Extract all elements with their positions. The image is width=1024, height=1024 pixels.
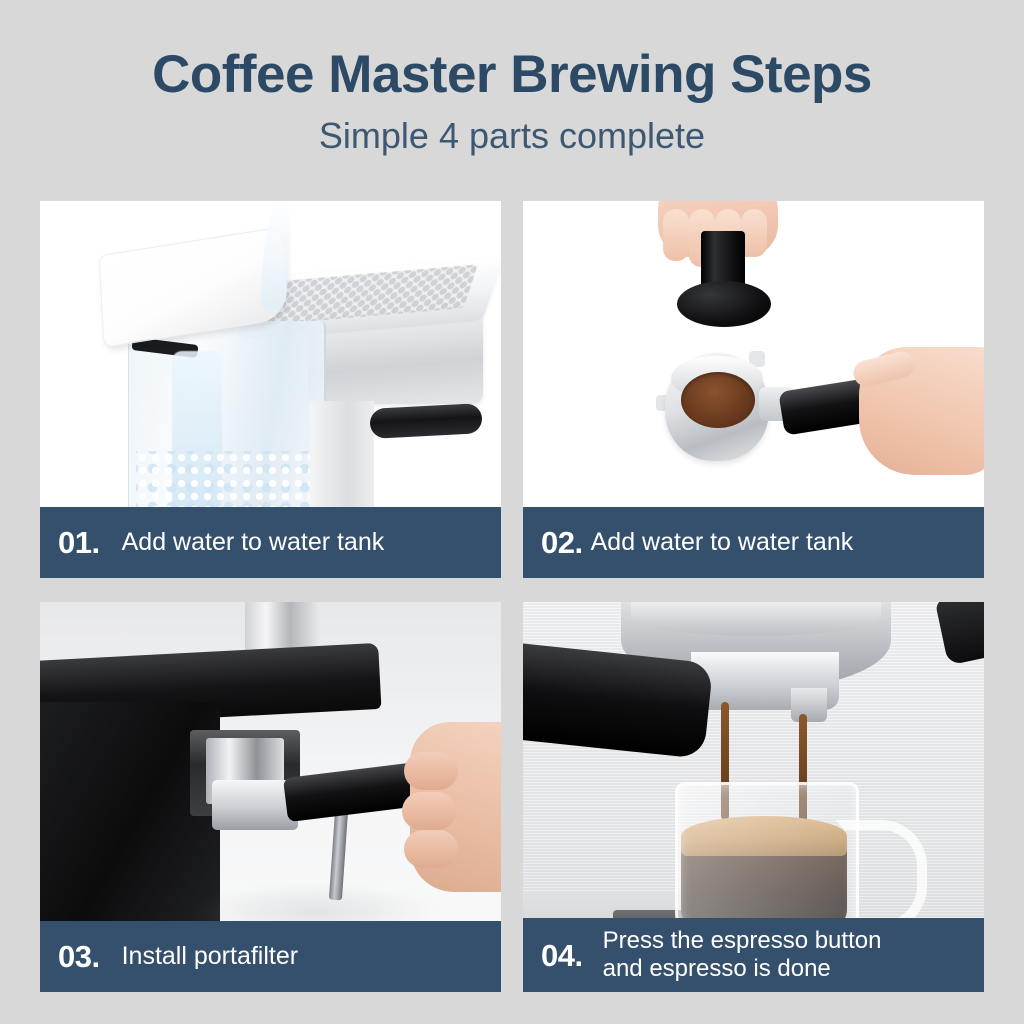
step-04-label-line1: Press the espresso button <box>603 927 882 955</box>
machine-pedestal <box>310 401 374 511</box>
step-01-label: Add water to water tank <box>122 528 385 557</box>
steps-grid: 01. Add water to water tank <box>40 201 984 992</box>
step-02-caption: 02. Add water to water tank <box>523 507 984 578</box>
cup-handle <box>835 820 927 932</box>
step-04-caption: 04. Press the espresso button and espres… <box>523 918 984 992</box>
step-01-number: 01. <box>58 527 100 558</box>
portafilter-spout <box>791 688 827 722</box>
tamper-base <box>677 281 771 327</box>
coffee-grounds <box>681 372 755 428</box>
step-card-02[interactable]: 02. Add water to water tank <box>523 201 984 578</box>
step-04-number: 04. <box>541 940 583 971</box>
water-bubbles <box>136 451 316 511</box>
step-02-number: 02. <box>541 527 583 558</box>
page-subtitle: Simple 4 parts complete <box>0 106 1024 158</box>
step-03-number: 03. <box>58 941 100 972</box>
step-card-01[interactable]: 01. Add water to water tank <box>40 201 501 578</box>
step-03-caption: 03. Install portafilter <box>40 921 501 992</box>
step-card-04[interactable]: 04. Press the espresso button and espres… <box>523 602 984 992</box>
header: Coffee Master Brewing Steps Simple 4 par… <box>0 0 1024 190</box>
step-01-caption: 01. Add water to water tank <box>40 507 501 578</box>
finger-ring <box>404 830 458 868</box>
page-title: Coffee Master Brewing Steps <box>0 0 1024 106</box>
glass-cup <box>675 782 859 936</box>
infographic-page: Coffee Master Brewing Steps Simple 4 par… <box>0 0 1024 1024</box>
step-card-03[interactable]: 03. Install portafilter <box>40 602 501 992</box>
finger-index <box>404 752 458 790</box>
finger-index <box>663 209 689 261</box>
step-04-label-line2: and espresso is done <box>603 955 882 983</box>
step-03-label: Install portafilter <box>122 942 298 971</box>
portafilter-handle <box>369 403 482 439</box>
step-04-label-group: Press the espresso button and espresso i… <box>603 927 882 983</box>
step-02-label: Add water to water tank <box>591 528 854 557</box>
finger-middle <box>402 792 456 830</box>
